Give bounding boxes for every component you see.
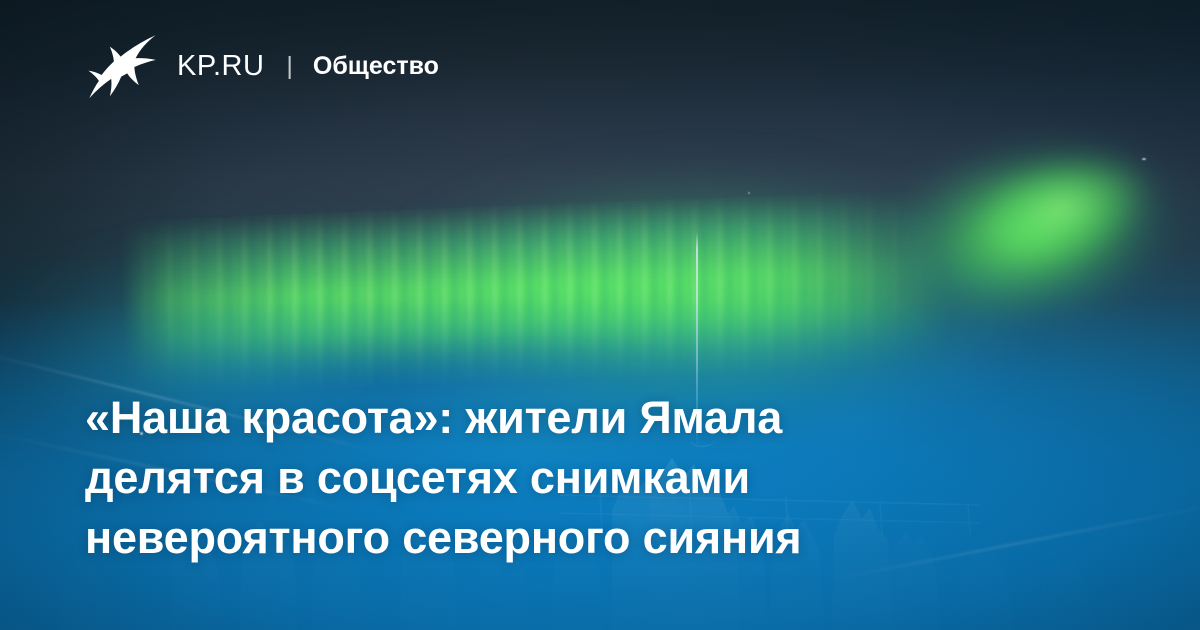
brand-name[interactable]: KP.RU bbox=[177, 52, 264, 81]
brand-header: KP.RU | Общество bbox=[85, 34, 439, 98]
headline: «Наша красота»: жители Ямала делятся в с… bbox=[85, 388, 1085, 568]
header-separator: | bbox=[286, 54, 293, 79]
rubric-label[interactable]: Общество bbox=[313, 54, 439, 79]
headline-line-1: «Наша красота»: жители Ямала bbox=[85, 388, 1085, 448]
swallow-bird-logo-icon[interactable] bbox=[85, 34, 157, 98]
headline-line-3: невероятного северного сияния bbox=[85, 508, 1085, 568]
social-share-card: KP.RU | Общество «Наша красота»: жители … bbox=[0, 0, 1200, 630]
headline-line-2: делятся в соцсетях снимками bbox=[85, 448, 1085, 508]
